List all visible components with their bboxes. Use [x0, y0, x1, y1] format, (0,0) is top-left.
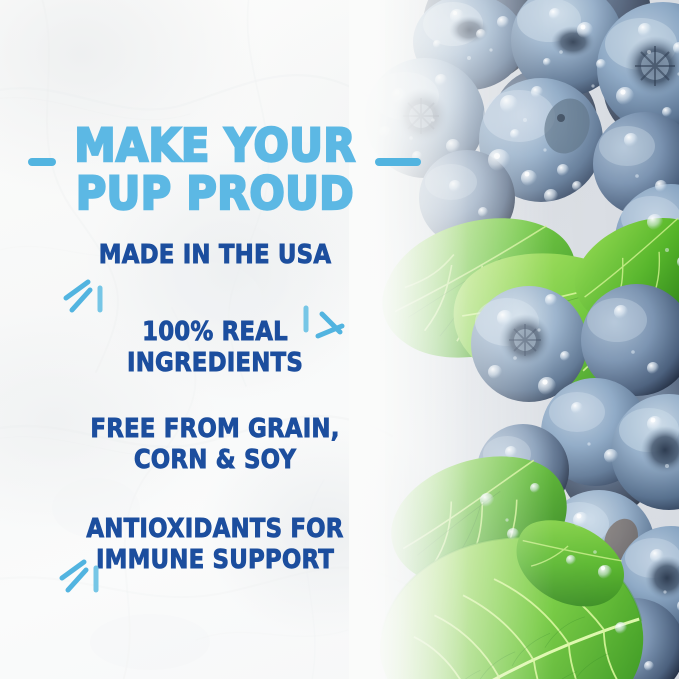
list-item: FREE FROM GRAIN, CORN & SOY [26, 414, 404, 476]
headline-line-1: MAKE YOUR [17, 122, 413, 170]
infographic-canvas: MAKE YOUR PUP PROUD MADE IN THE USA 100%… [0, 0, 679, 679]
benefit-line: FREE FROM GRAIN, [26, 414, 404, 445]
headline-line-2: PUP PROUD [17, 170, 413, 218]
benefit-line: ANTIOXIDANTS FOR [26, 514, 404, 545]
benefit-line: INGREDIENTS [26, 348, 404, 379]
copy-block: MAKE YOUR PUP PROUD MADE IN THE USA 100%… [0, 0, 430, 679]
sparkle-mark-3-icon [58, 556, 106, 600]
page-title: MAKE YOUR PUP PROUD [17, 122, 413, 218]
sparkle-mark-2-icon [298, 302, 348, 348]
sparkle-mark-1-icon [62, 276, 110, 320]
list-item: MADE IN THE USA [26, 240, 404, 271]
benefit-line: CORN & SOY [26, 445, 404, 476]
benefit-line: MADE IN THE USA [26, 240, 404, 271]
